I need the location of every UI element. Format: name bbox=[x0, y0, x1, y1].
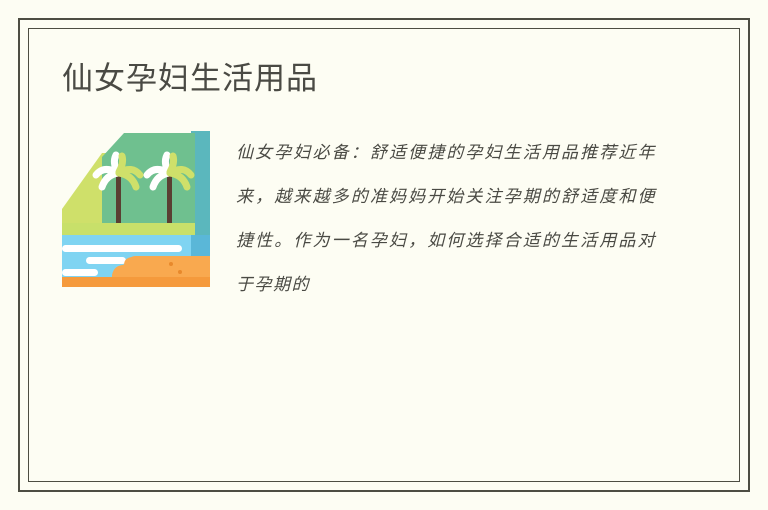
article-block: 仙女孕妇必备：舒适便捷的孕妇生活用品推荐近年来，越来越多的准妈妈开始关注孕期的舒… bbox=[62, 131, 706, 307]
content-area: 仙女孕妇生活用品 bbox=[28, 28, 740, 482]
page-title: 仙女孕妇生活用品 bbox=[62, 60, 706, 97]
beach-island-illustration bbox=[62, 131, 210, 287]
article-thumbnail bbox=[62, 131, 210, 287]
article-body-text: 仙女孕妇必备：舒适便捷的孕妇生活用品推荐近年来，越来越多的准妈妈开始关注孕期的舒… bbox=[236, 131, 656, 307]
page-root: 仙女孕妇生活用品 bbox=[0, 0, 768, 510]
